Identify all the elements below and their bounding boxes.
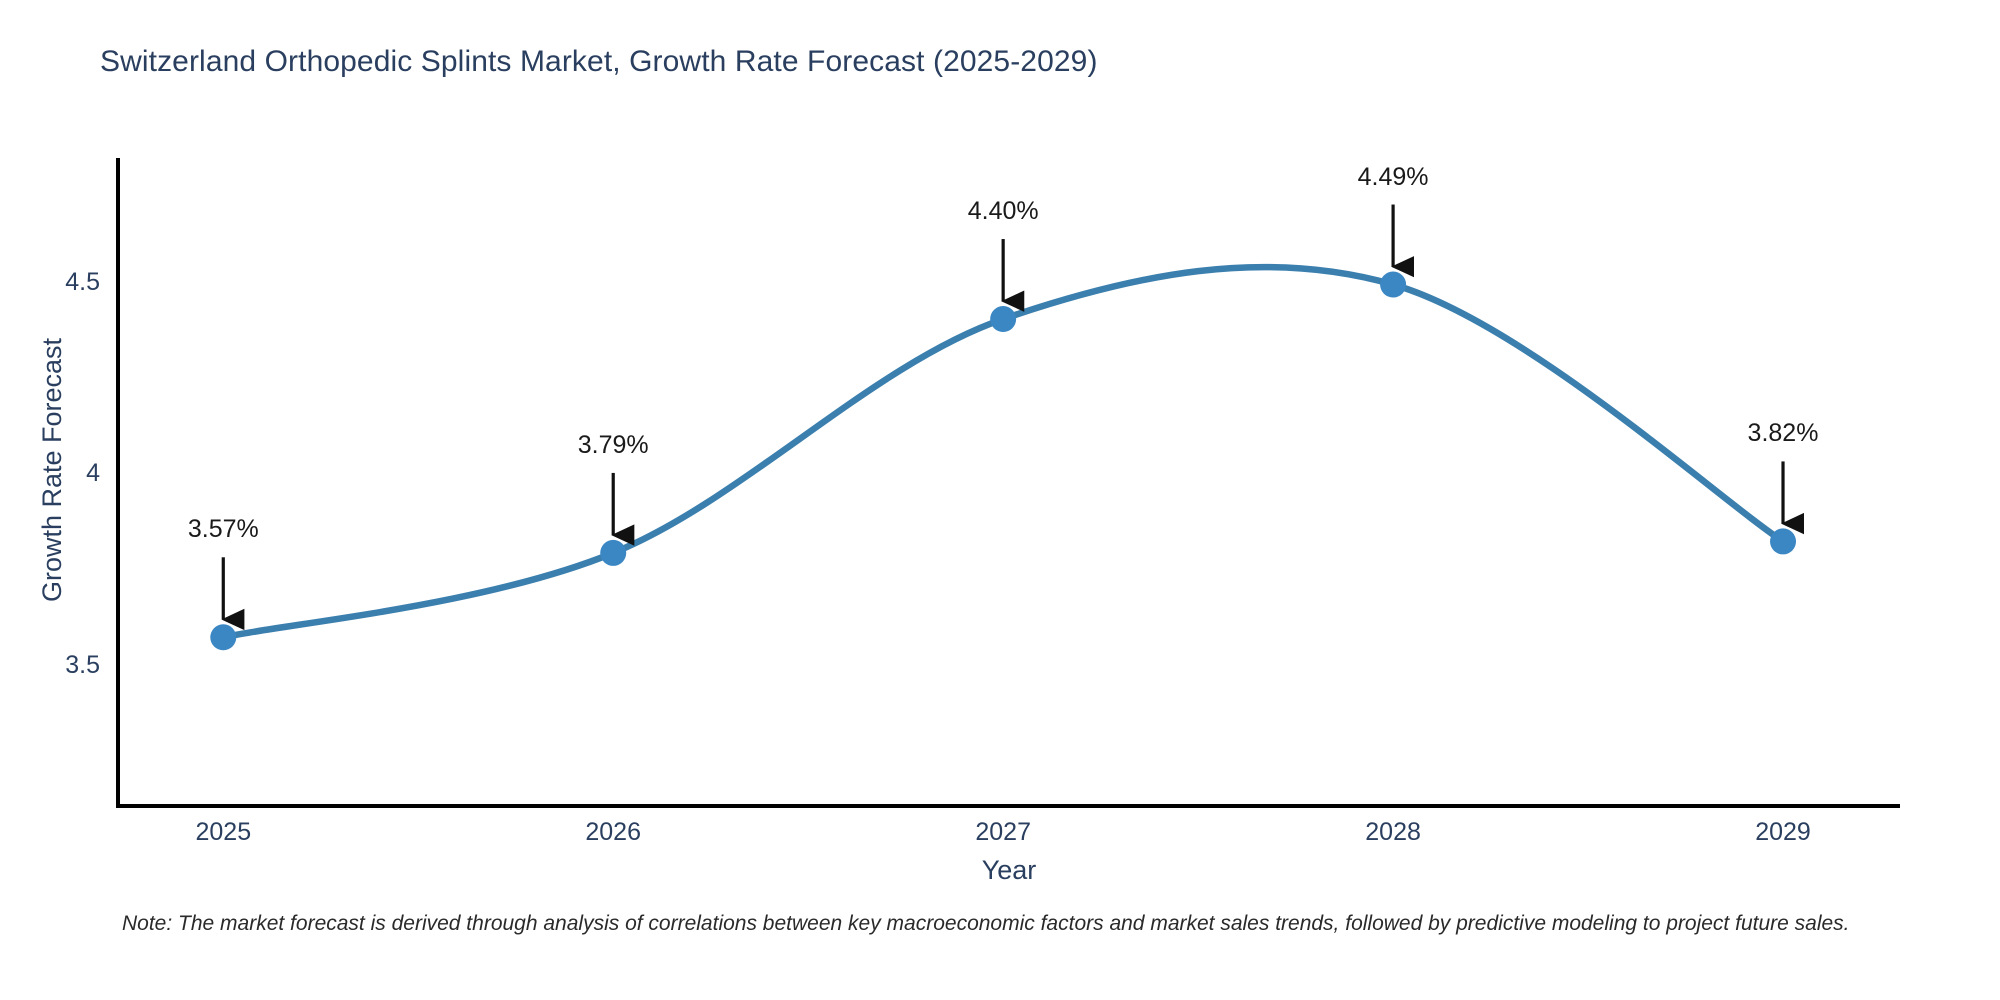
series-markers — [210, 272, 1796, 651]
point-value-label: 3.79% — [513, 431, 713, 460]
y-tick-label: 3.5 — [0, 651, 100, 680]
chart-container: Switzerland Orthopedic Splints Market, G… — [0, 0, 2000, 1000]
x-tick-label: 2027 — [923, 818, 1083, 847]
x-tick-label: 2029 — [1703, 818, 1863, 847]
data-point-marker[interactable] — [1380, 272, 1406, 298]
y-tick-label: 4.5 — [0, 268, 100, 297]
point-value-label: 3.57% — [123, 515, 323, 544]
plot-area — [0, 0, 2000, 1000]
point-value-label: 4.40% — [903, 197, 1103, 226]
point-value-label: 4.49% — [1293, 163, 1493, 192]
data-point-marker[interactable] — [990, 306, 1016, 332]
data-point-marker[interactable] — [600, 540, 626, 566]
annotation-arrows — [223, 205, 1783, 620]
y-tick-label: 4 — [0, 459, 100, 488]
x-axis-title: Year — [118, 855, 1900, 886]
axis-lines — [116, 158, 1900, 806]
data-point-marker[interactable] — [210, 624, 236, 650]
chart-footnote: Note: The market forecast is derived thr… — [122, 912, 1850, 936]
x-tick-label: 2025 — [143, 818, 303, 847]
point-value-label: 3.82% — [1683, 419, 1883, 448]
data-point-marker[interactable] — [1770, 528, 1796, 554]
x-tick-label: 2026 — [533, 818, 693, 847]
x-tick-label: 2028 — [1313, 818, 1473, 847]
